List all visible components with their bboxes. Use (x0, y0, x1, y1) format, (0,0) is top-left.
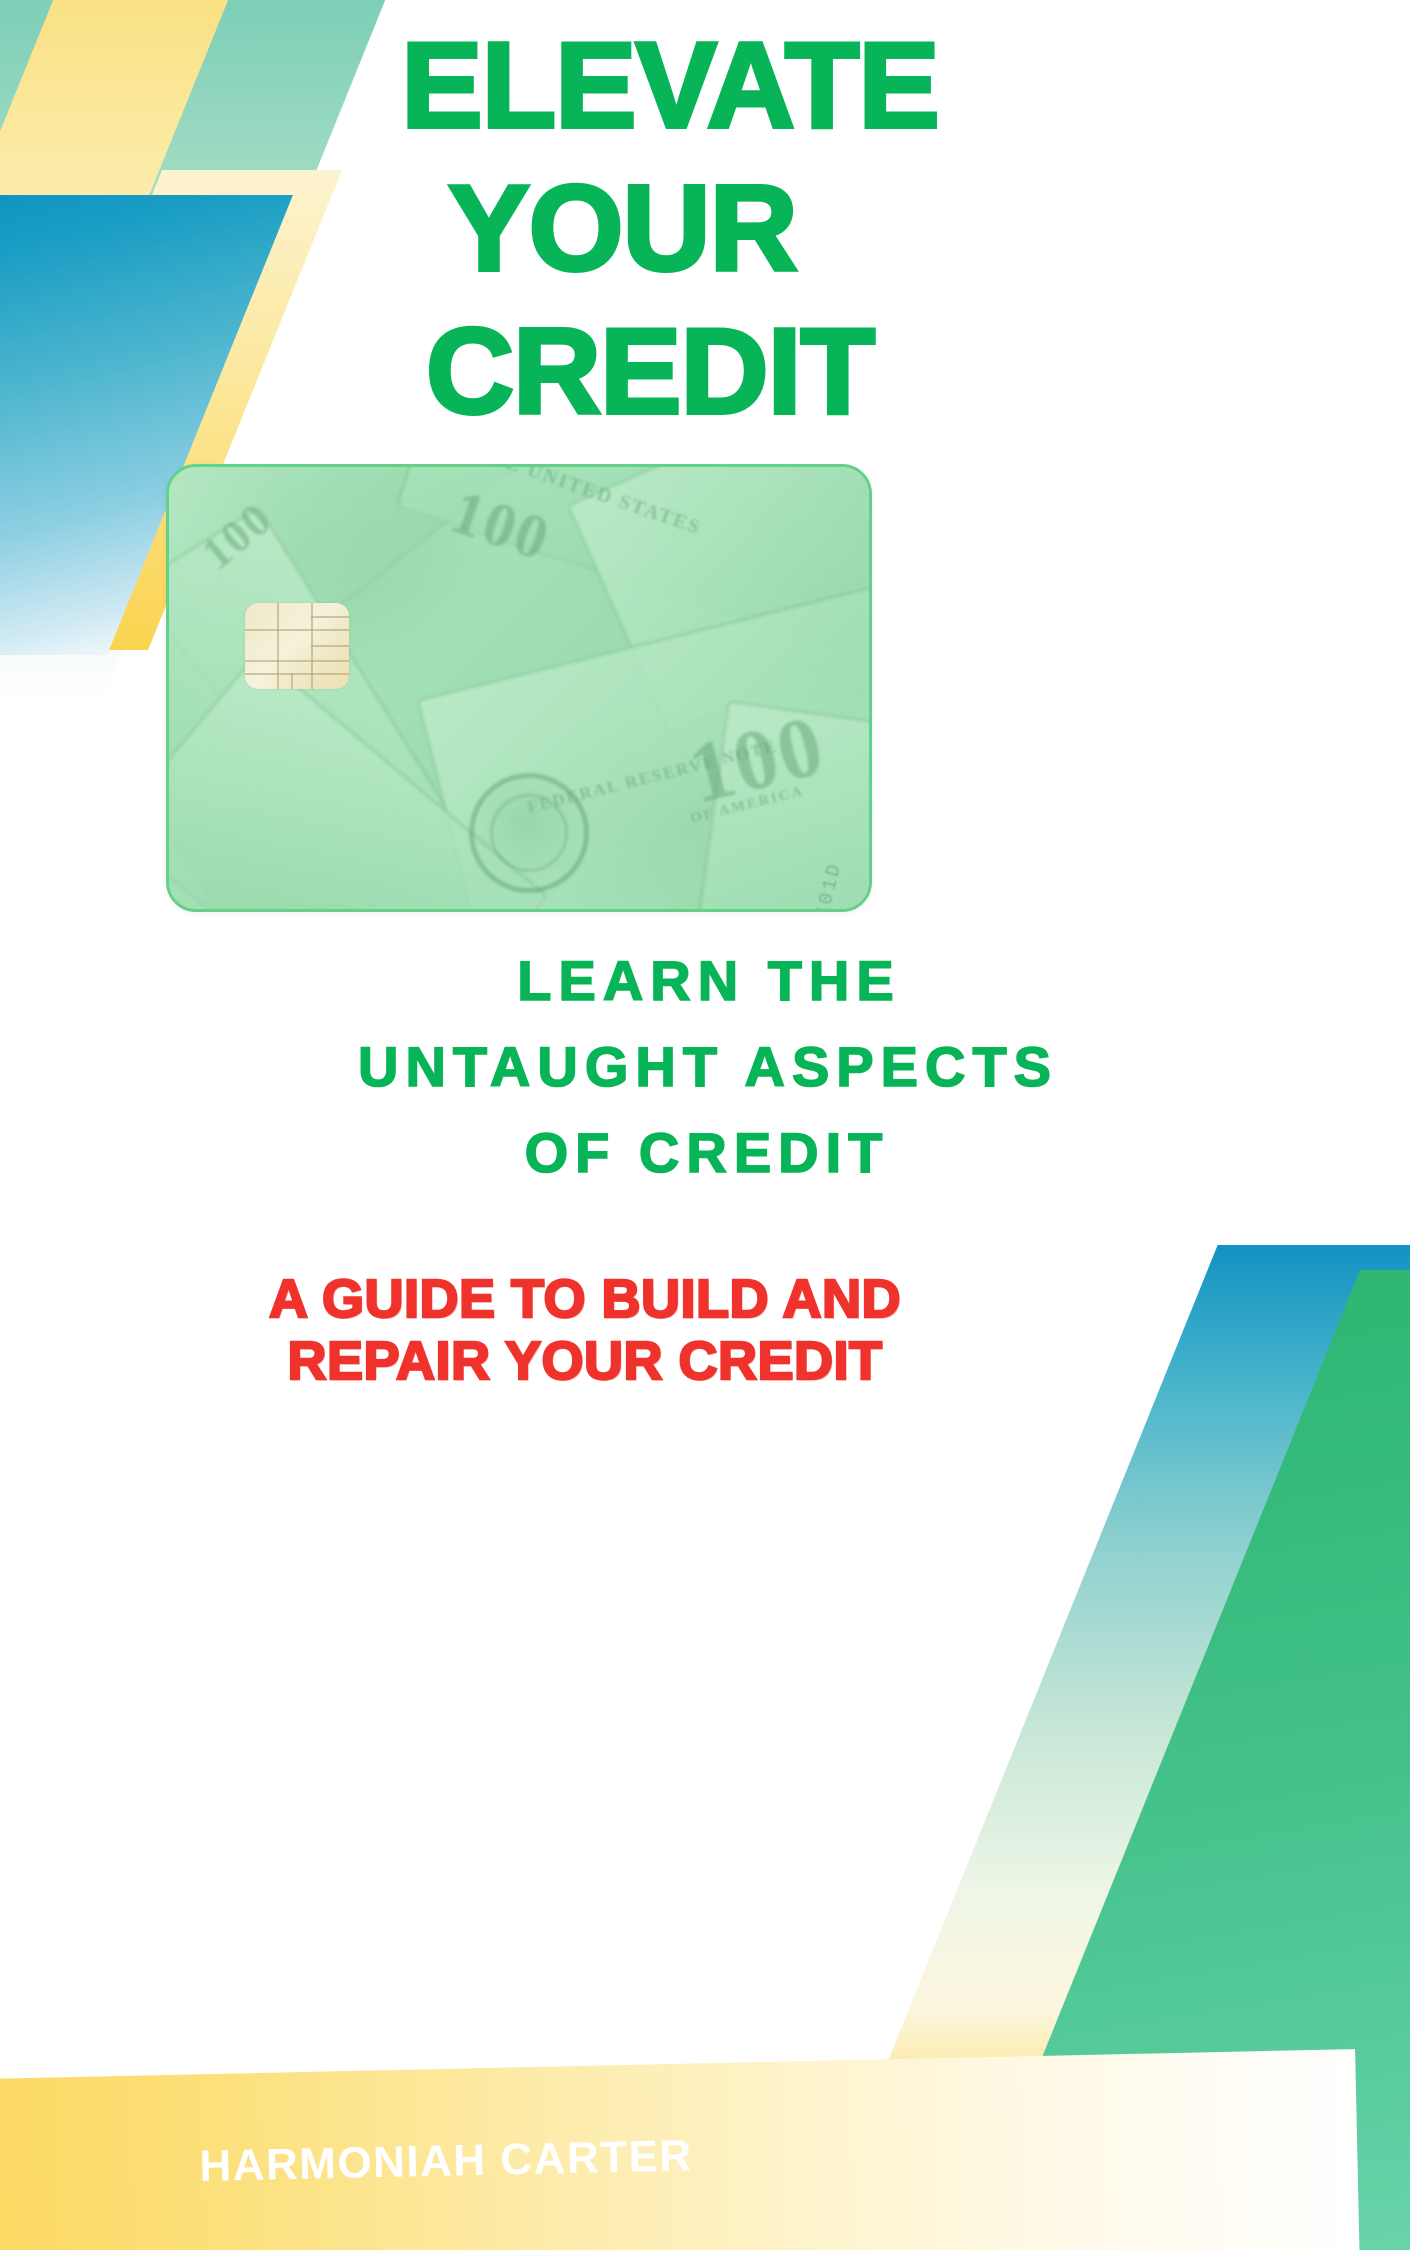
credit-card: THE UNITED STATES 100 100 100 FEDERAL RE… (166, 464, 872, 912)
subtitle-line-3: OF CREDIT (0, 1110, 1410, 1196)
federal-reserve-seal-icon (469, 773, 589, 893)
title-line-3: CREDIT (0, 300, 1350, 443)
tagline-line-1: A GUIDE TO BUILD AND (0, 1268, 1170, 1330)
book-cover: ELEVATE YOUR CREDIT THE UNITED STATES 10… (0, 0, 1410, 2250)
title-line-2: YOUR (0, 157, 1350, 300)
cover-content: ELEVATE YOUR CREDIT THE UNITED STATES 10… (0, 0, 1410, 2250)
book-tagline: A GUIDE TO BUILD AND REPAIR YOUR CREDIT (0, 1268, 1410, 1392)
title-line-1: ELEVATE (0, 14, 1350, 157)
subtitle-line-1: LEARN THE (0, 938, 1410, 1024)
tagline-line-2: REPAIR YOUR CREDIT (0, 1330, 1170, 1392)
book-title: ELEVATE YOUR CREDIT (0, 14, 1410, 443)
emv-chip-icon (245, 603, 349, 689)
credit-card-illustration: THE UNITED STATES 100 100 100 FEDERAL RE… (166, 464, 872, 912)
book-subtitle: LEARN THE UNTAUGHT ASPECTS OF CREDIT (0, 938, 1410, 1196)
subtitle-line-2: UNTAUGHT ASPECTS (0, 1024, 1410, 1110)
